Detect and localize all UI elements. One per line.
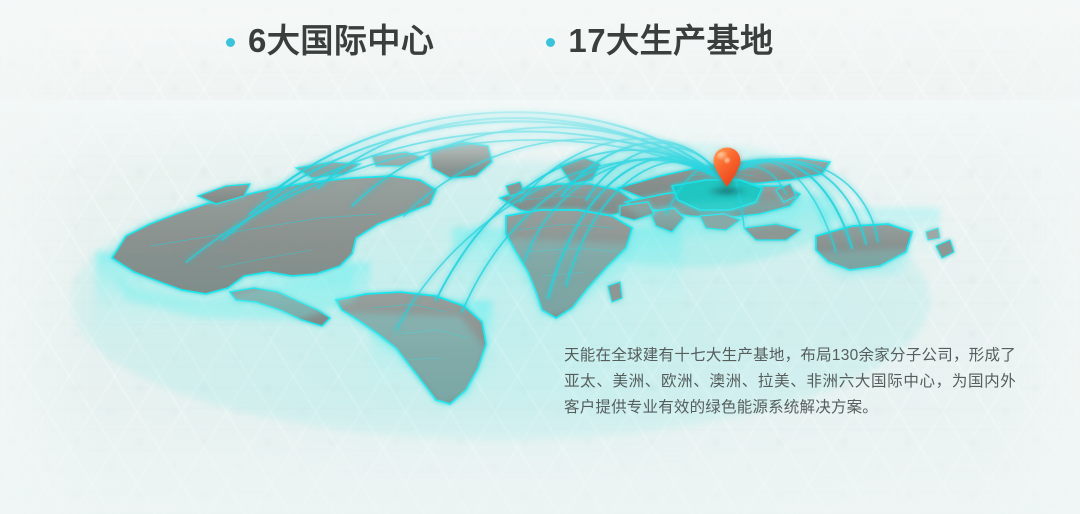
dot-icon bbox=[546, 38, 555, 47]
headline-text: 6大国际中心 bbox=[248, 24, 434, 57]
world-map bbox=[0, 0, 1080, 514]
headline-international-centers: 6大国际中心 bbox=[226, 24, 434, 57]
dot-icon bbox=[226, 38, 235, 47]
infographic-stage: 6大国际中心 17大生产基地 天能在全球建有十七大生产基地，布局130余家分子公… bbox=[0, 0, 1080, 514]
headline-production-bases: 17大生产基地 bbox=[546, 24, 773, 57]
map-pin-icon[interactable] bbox=[712, 146, 742, 188]
description-paragraph: 天能在全球建有十七大生产基地，布局130余家分子公司，形成了亚太、美洲、欧洲、澳… bbox=[564, 343, 1016, 421]
headings-row: 6大国际中心 17大生产基地 bbox=[226, 24, 774, 57]
headline-text: 17大生产基地 bbox=[568, 24, 773, 57]
